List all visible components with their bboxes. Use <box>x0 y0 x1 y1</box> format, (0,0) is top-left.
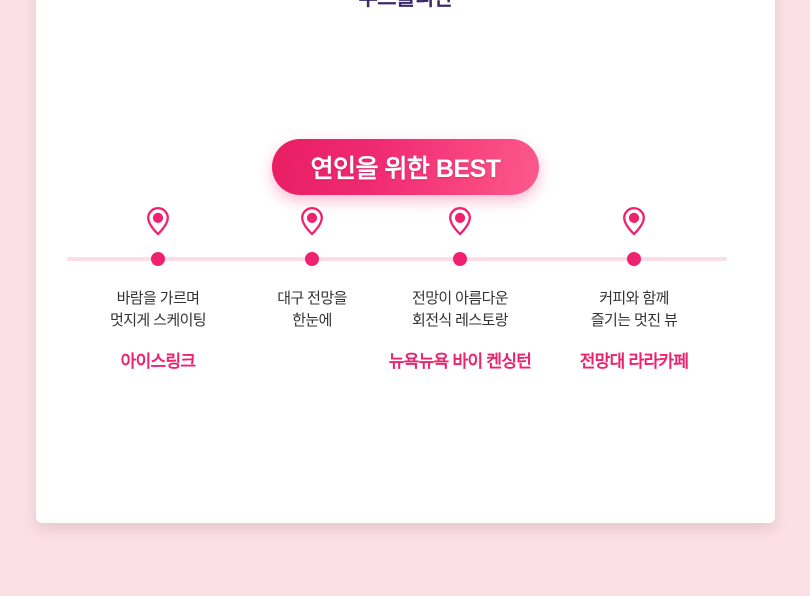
timeline-dot <box>627 252 641 266</box>
timeline-dot <box>453 252 467 266</box>
map-pin-icon <box>299 206 325 240</box>
map-pin-icon <box>145 206 171 240</box>
caption-description-line1: 커피와 함께 <box>519 288 749 310</box>
page-title: 푸드폴리탄 <box>36 0 775 12</box>
timeline-dot <box>151 252 165 266</box>
map-pin-icon <box>447 206 473 240</box>
timeline-point[interactable] <box>128 204 188 280</box>
timeline <box>36 204 775 280</box>
badge-container: 연인을 위한 BEST <box>36 139 775 195</box>
timeline-caption: 커피와 함께즐기는 멋진 뷰전망대 라라카페 <box>519 288 749 372</box>
timeline-point[interactable] <box>604 204 664 280</box>
content-card: 푸드폴리탄 연인을 위한 BEST 바람을 가르며멋지게 스케이팅아이스링크대구… <box>36 0 775 523</box>
best-for-couples-badge[interactable]: 연인을 위한 BEST <box>272 139 538 195</box>
map-pin-icon <box>621 206 647 240</box>
caption-place-name[interactable]: 전망대 라라카페 <box>519 347 749 372</box>
timeline-point[interactable] <box>282 204 342 280</box>
timeline-point[interactable] <box>430 204 490 280</box>
timeline-dot <box>305 252 319 266</box>
caption-description-line2: 즐기는 멋진 뷰 <box>519 310 749 332</box>
timeline-captions: 바람을 가르며멋지게 스케이팅아이스링크대구 전망을한눈에전망이 아름다운회전식… <box>36 288 775 398</box>
